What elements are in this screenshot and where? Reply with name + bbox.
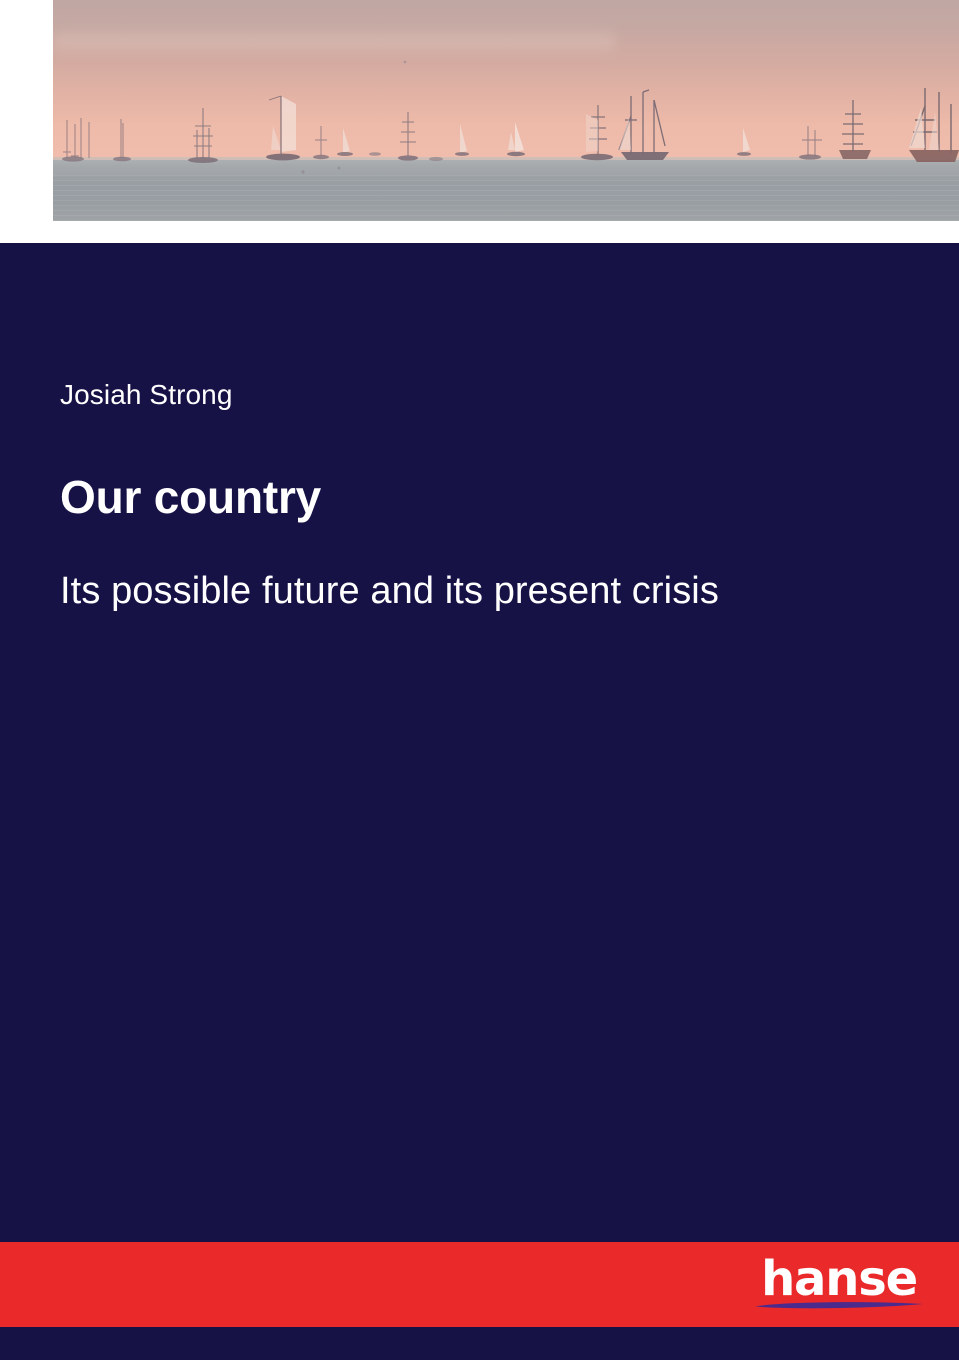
book-title: Our country (60, 472, 900, 523)
book-cover: Josiah Strong Our country Its possible f… (0, 0, 959, 1360)
cover-text-block: Josiah Strong Our country Its possible f… (60, 380, 900, 614)
photo-ships (53, 0, 959, 221)
author-name: Josiah Strong (60, 380, 900, 411)
publisher-logo: hanse (749, 1253, 929, 1319)
logo-swoosh-icon (753, 1300, 925, 1311)
book-subtitle: Its possible future and its present cris… (60, 570, 900, 614)
publisher-logo-text: hanse (749, 1253, 929, 1305)
cover-photo (53, 0, 959, 221)
